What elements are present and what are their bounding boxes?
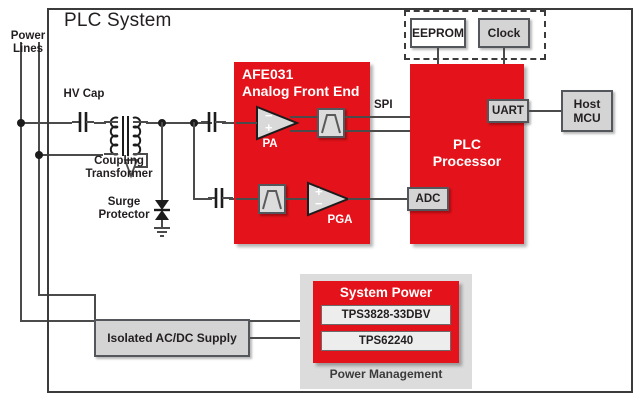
rx-filter-block (258, 184, 286, 214)
eeprom-block[interactable]: EEPROM (410, 18, 466, 48)
wire-rx-branch-down (193, 122, 195, 200)
tps-part-1-label: TPS62240 (359, 335, 413, 347)
uart-label: UART (492, 105, 524, 117)
plc-processor-title: PLC Processor (410, 136, 524, 170)
filter-response-icon-rx (260, 186, 284, 212)
hv-cap-text: HV Cap (64, 88, 105, 100)
tps-part-0-label: TPS3828-33DBV (342, 309, 431, 321)
pga-minus-sign: − (315, 196, 323, 211)
page-title: PLC System (64, 10, 172, 32)
uart-port[interactable]: UART (487, 99, 529, 123)
wire-rxfilter-to-pga (286, 198, 308, 200)
wire-afe-pa-input (236, 122, 257, 124)
system-power-title: System Power (313, 285, 459, 300)
afe031-title: AFE031 Analog Front End (242, 66, 370, 100)
wire-uart-to-host (529, 110, 562, 112)
junction-dot-line-b (35, 151, 43, 159)
tps-part-1[interactable]: TPS62240 (321, 331, 451, 351)
host-mcu-block[interactable]: Host MCU (561, 90, 613, 132)
afe031-title-line1: AFE031 (242, 66, 370, 83)
surge-protector-label: Surge Protector (96, 196, 152, 222)
adc-label: ADC (416, 193, 441, 205)
power-line-a (20, 42, 22, 322)
clock-label: Clock (488, 26, 521, 40)
spi-label: SPI (374, 99, 393, 111)
plc-processor-title-line1: PLC (410, 136, 524, 153)
eeprom-label: EEPROM (412, 26, 464, 40)
coupling-transformer-label: Coupling Transformer (76, 155, 162, 181)
clock-block[interactable]: Clock (478, 18, 530, 48)
power-management-label: Power Management (300, 368, 472, 382)
pa-label: PA (254, 138, 286, 150)
wire-pa-out-bottom (290, 130, 318, 132)
tx-filter-block (317, 108, 345, 138)
isolated-acdc-supply-block[interactable]: Isolated AC/DC Supply (94, 319, 250, 357)
hv-cap-label: HV Cap (62, 88, 106, 101)
wire-txfilter-out-top (345, 116, 417, 118)
surge-protector-text: Surge Protector (98, 196, 149, 221)
wire-txfilter-out-bottom (345, 130, 417, 132)
pa-plus-sign: + (265, 120, 273, 135)
power-lines-text: Power Lines (11, 30, 46, 55)
wire-afe-rx-input (236, 198, 258, 200)
hv-cap-symbol (70, 108, 96, 136)
wire-pga-to-adc (348, 198, 410, 200)
power-line-b (38, 42, 40, 296)
adc-port[interactable]: ADC (407, 187, 449, 211)
wire-pa-out-top (290, 116, 318, 118)
power-management-text: Power Management (330, 367, 443, 381)
isolated-acdc-supply-label: Isolated AC/DC Supply (107, 331, 237, 345)
pga-amplifier-icon (306, 181, 350, 217)
plc-system-diagram: Power Lines PLC System HV Cap (0, 0, 641, 403)
wire-surge-branch (161, 122, 163, 200)
plc-processor-title-line2: Processor (410, 153, 524, 170)
tps-part-0[interactable]: TPS3828-33DBV (321, 305, 451, 325)
surge-protector-symbol (150, 196, 174, 240)
coupling-transformer-text: Coupling Transformer (85, 155, 152, 180)
junction-dot-line-a (17, 119, 25, 127)
filter-response-icon (319, 110, 343, 136)
afe031-title-line2: Analog Front End (242, 83, 370, 100)
pa-amplifier-icon (255, 105, 299, 141)
pga-label: PGA (320, 214, 360, 226)
host-mcu-line2: MCU (573, 111, 600, 125)
host-mcu-line1: Host (574, 97, 601, 111)
